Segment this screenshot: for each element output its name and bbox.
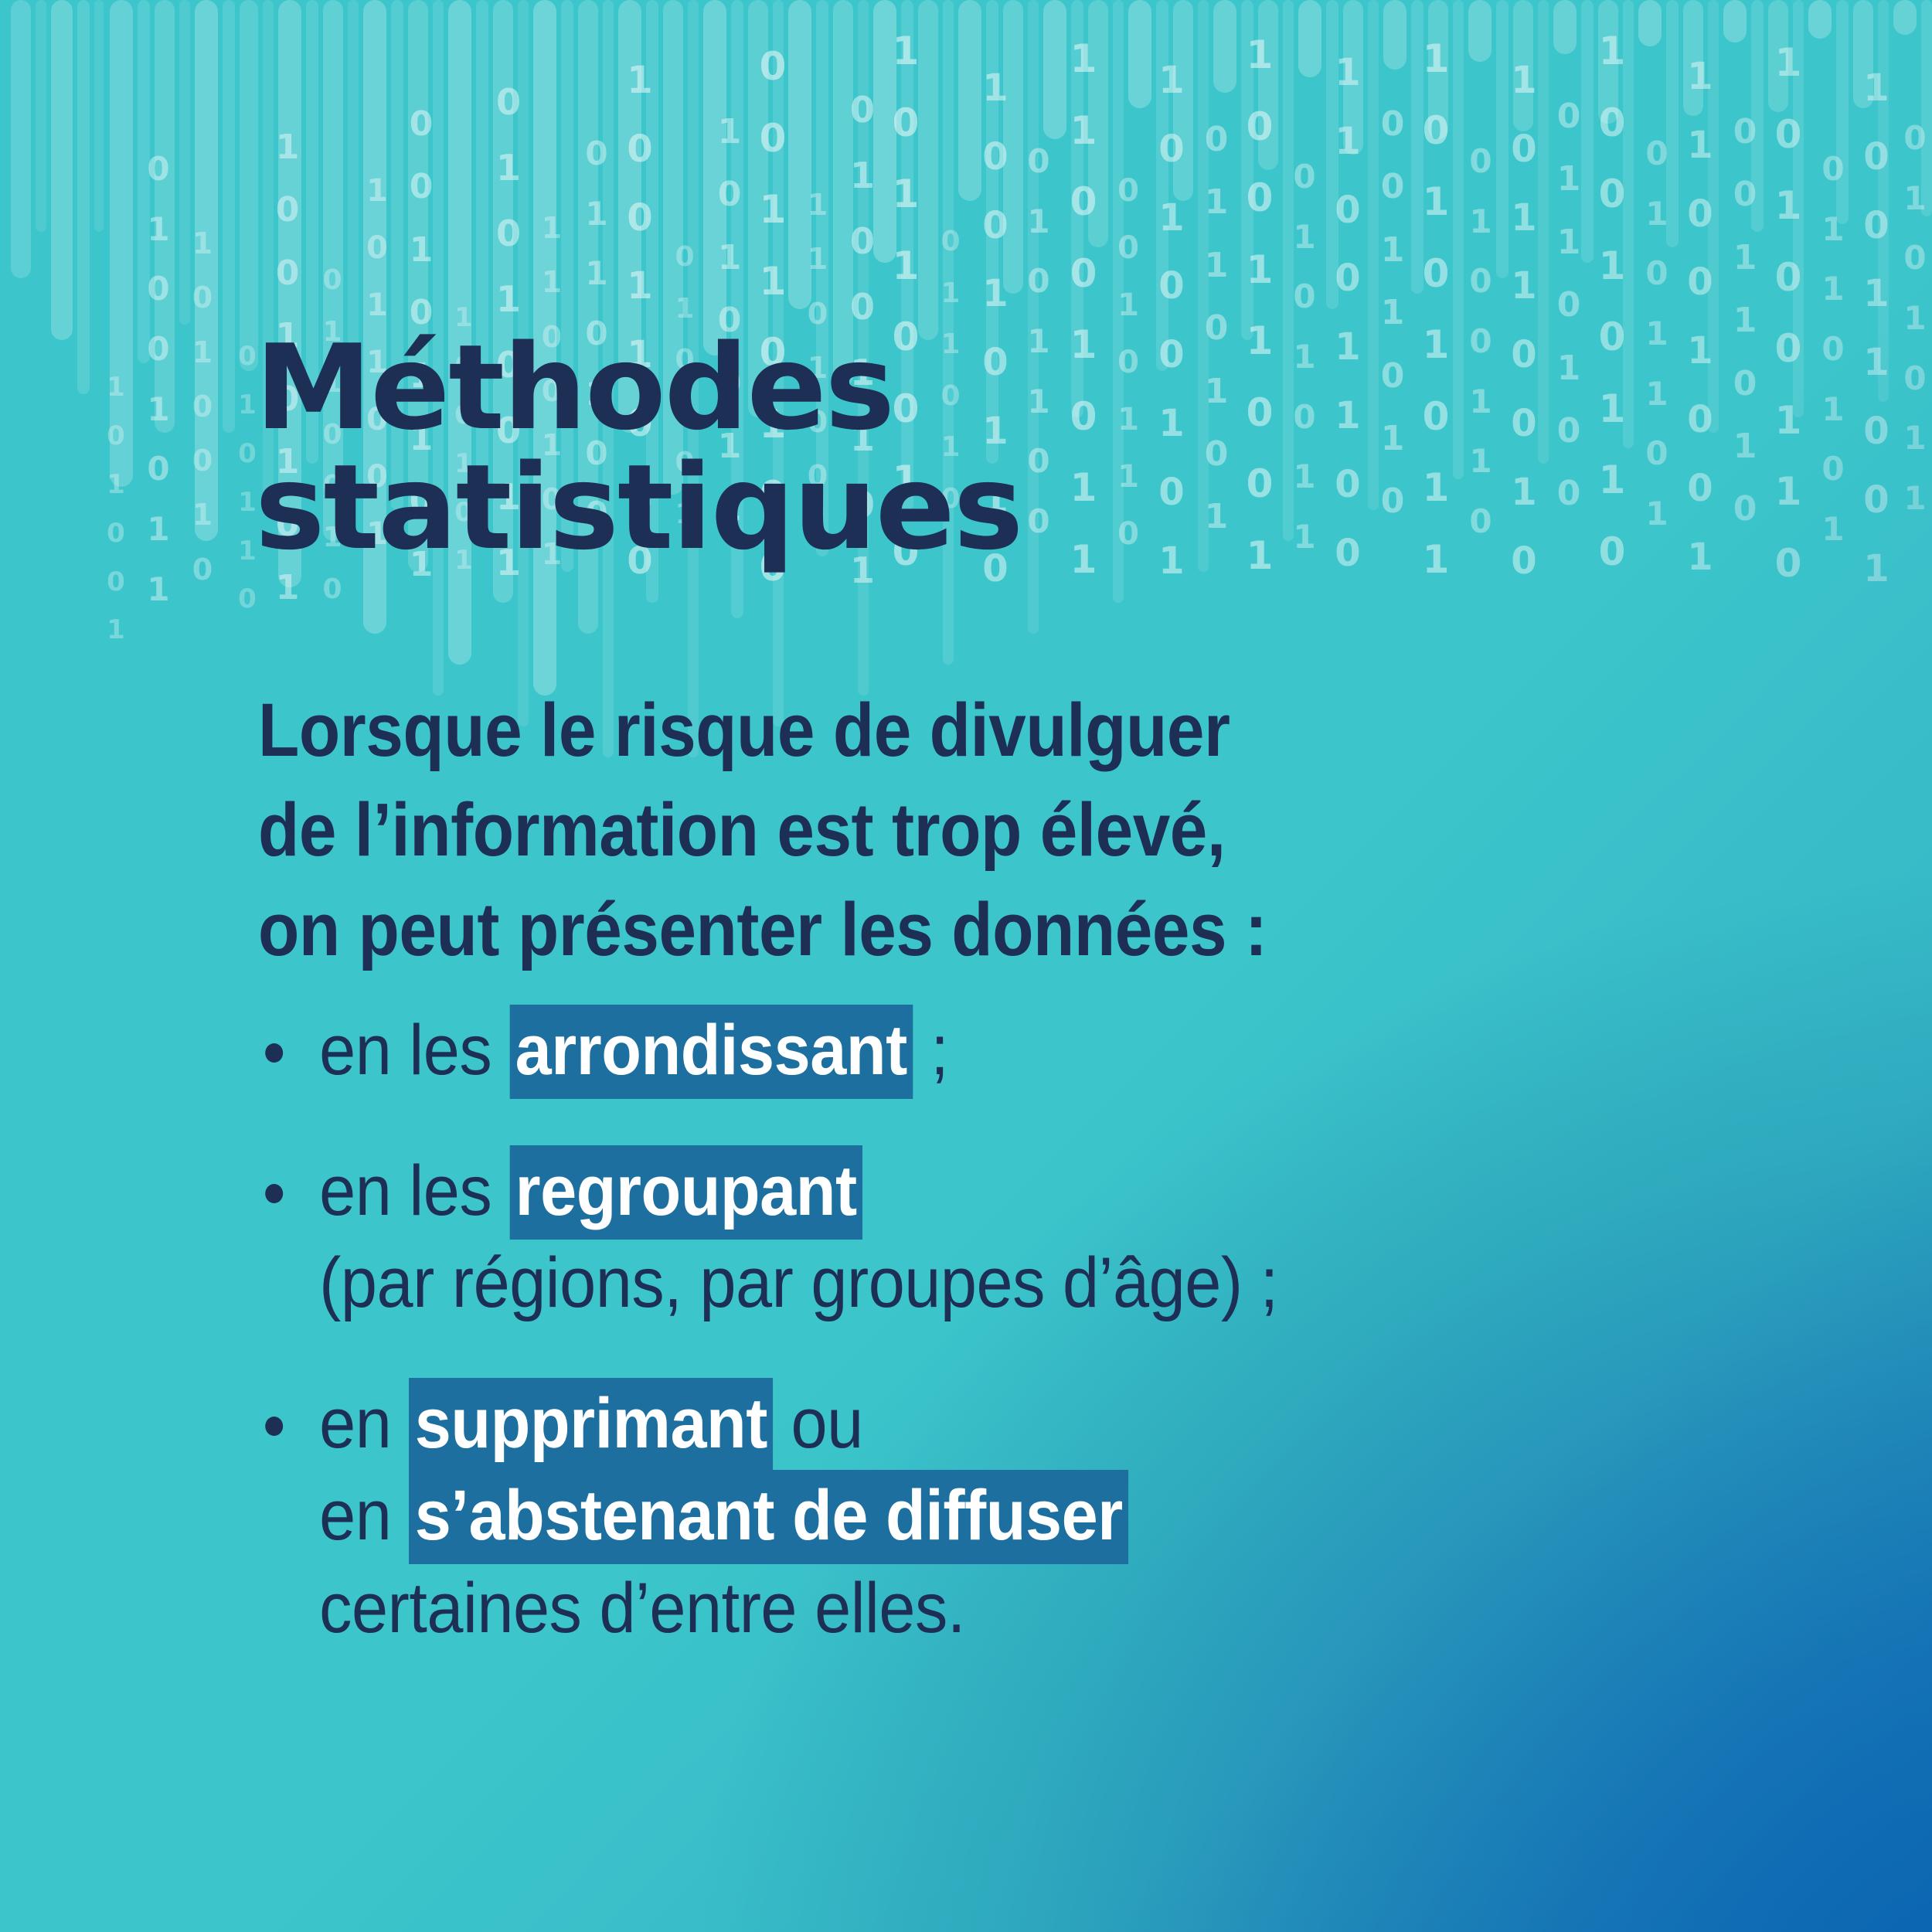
list-item-text: certaines d’entre elles. (319, 1569, 965, 1648)
intro-paragraph: Lorsque le risque de divulguer de l’info… (258, 680, 1475, 979)
highlighted-term: supprimant (409, 1378, 773, 1472)
list-item-line: en s’abstenant de diffuser (319, 1470, 1680, 1563)
intro-line-3: on peut présenter les données : (258, 879, 1475, 979)
list-item-text: en (319, 1384, 409, 1463)
list-item-line: en les regroupant (319, 1145, 1680, 1238)
poster-content: Méthodes statistiques Lorsque le risque … (0, 0, 1932, 1932)
list-item-line: (par régions, par groupes d’âge) ; (319, 1237, 1680, 1330)
page-title-line-2: statistiques (255, 447, 1414, 567)
intro-line-2: de l’information est trop élevé, (258, 780, 1475, 879)
highlighted-term: arrondissant (509, 1005, 913, 1099)
bullet-dot-icon (265, 1417, 283, 1436)
list-item-text: en les (319, 1151, 509, 1230)
methods-bullet-list: en les arrondissant ;en les regroupant(p… (258, 1005, 1804, 1655)
highlighted-term: regroupant (509, 1145, 862, 1240)
bullet-dot-icon (265, 1184, 283, 1203)
list-item-text: en les (319, 1011, 509, 1090)
list-item: en les arrondissant ; (258, 1005, 1680, 1097)
list-item-text: ou (773, 1384, 862, 1463)
list-item: en supprimant ouen s’abstenant de diffus… (258, 1378, 1680, 1655)
bullet-dot-icon (265, 1043, 283, 1063)
list-item-line: en les arrondissant ; (319, 1005, 1680, 1097)
intro-line-1: Lorsque le risque de divulguer (258, 680, 1475, 780)
list-item-line: en supprimant ou (319, 1378, 1680, 1471)
page-title: Méthodes statistiques (255, 328, 1414, 567)
list-item-line: certaines d’entre elles. (319, 1563, 1680, 1655)
highlighted-term: s’abstenant de diffuser (409, 1470, 1128, 1564)
page-title-line-1: Méthodes (255, 328, 1414, 447)
poster-canvas: 1 0 1 0 0 10 1 0 0 1 0 1 11 0 1 0 0 1 00… (0, 0, 1932, 1932)
list-item: en les regroupant(par régions, par group… (258, 1145, 1680, 1330)
list-item-text: (par régions, par groupes d’âge) ; (319, 1243, 1278, 1322)
list-item-text: ; (913, 1011, 948, 1090)
list-item-text: en (319, 1476, 409, 1555)
